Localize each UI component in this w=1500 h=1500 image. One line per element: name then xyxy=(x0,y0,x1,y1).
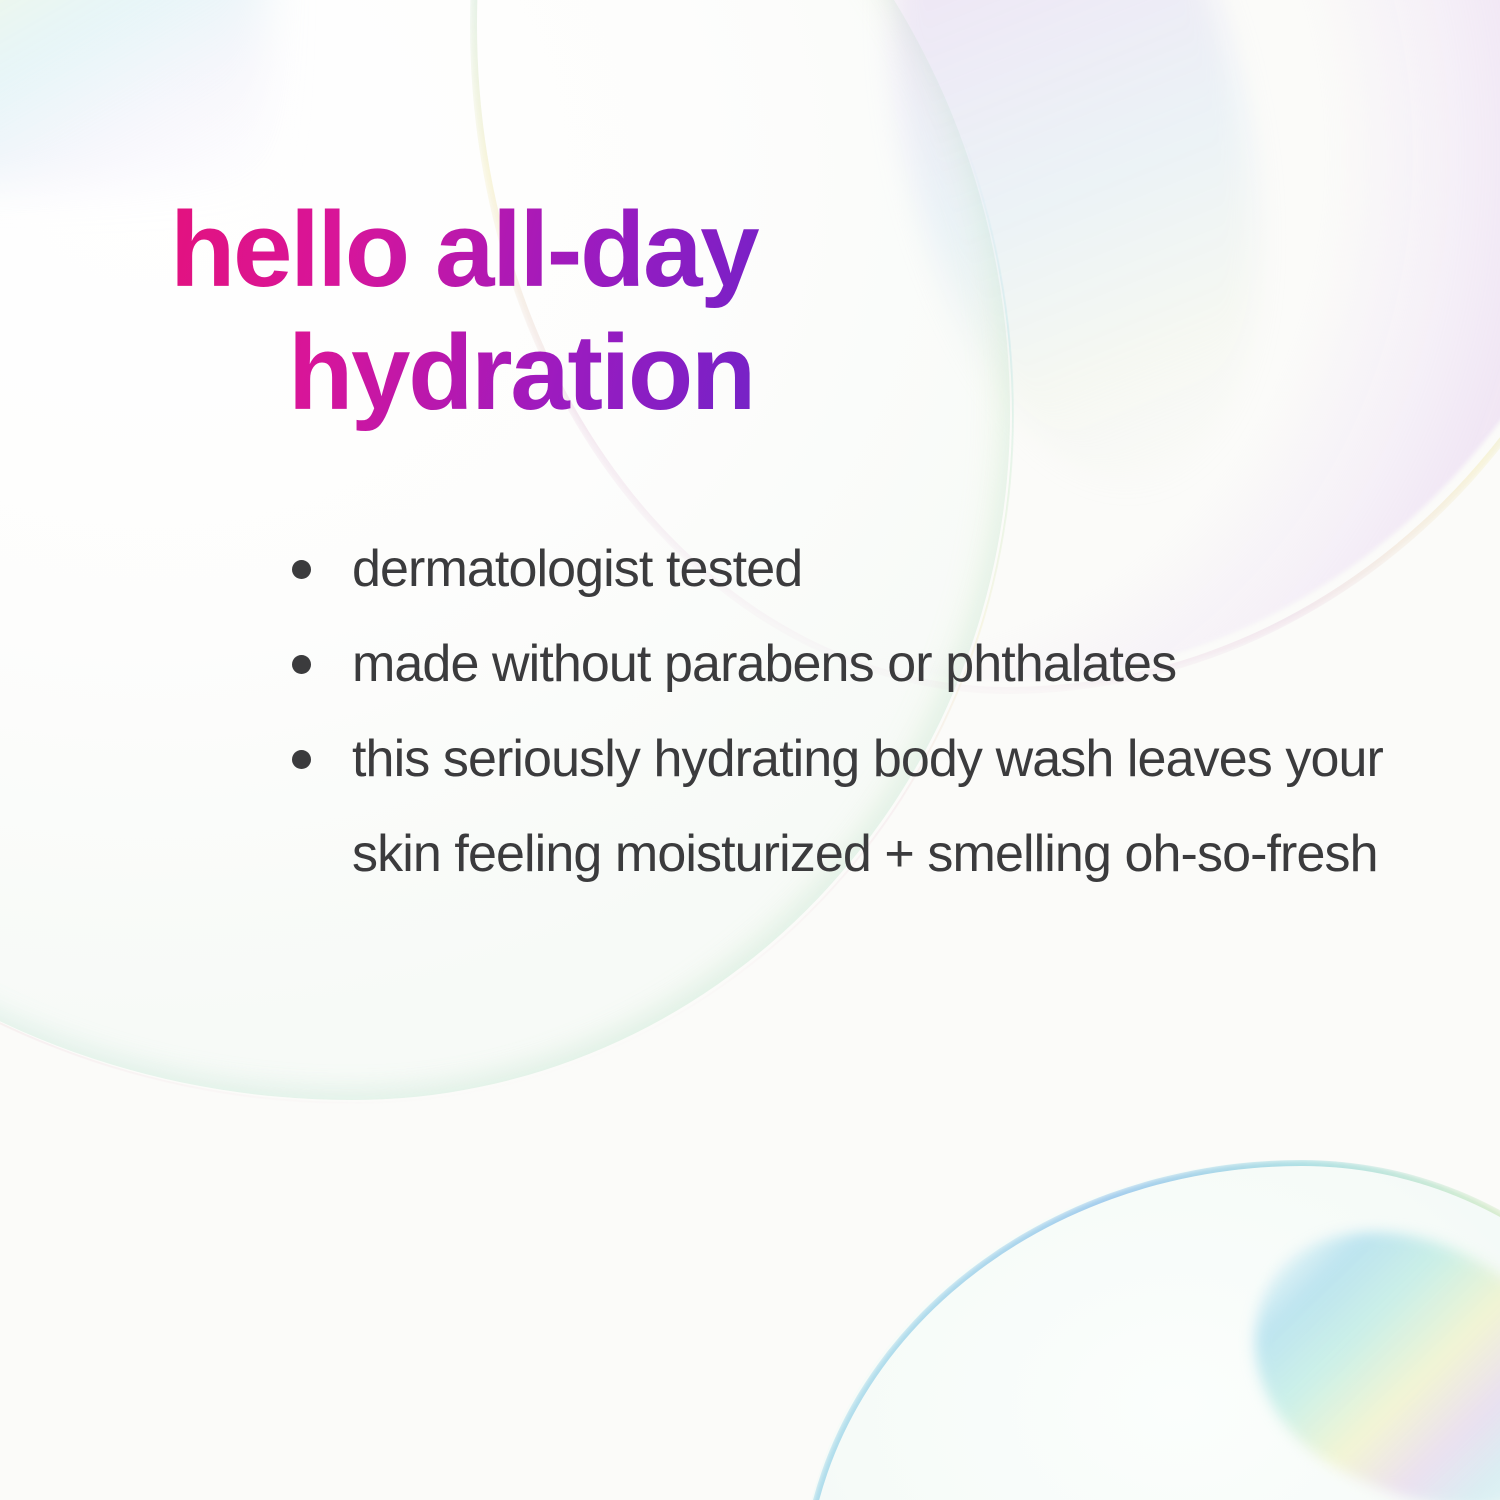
bubble-bottom-right xyxy=(800,1160,1500,1500)
list-item-label: dermatologist tested xyxy=(352,540,802,598)
bullet-dot-icon xyxy=(292,560,311,579)
bullet-dot-icon xyxy=(292,655,311,674)
headline-line-2: hydration xyxy=(170,311,1270,434)
list-item: made without parabens or phthalates xyxy=(288,617,1398,712)
claims-list: dermatologist tested made without parabe… xyxy=(288,522,1398,902)
page-title: hello all-day hydration xyxy=(170,188,1270,434)
bubble-bottom-right-rim-icon xyxy=(800,1160,1500,1500)
list-item-label: this seriously hydrating body wash leave… xyxy=(352,730,1383,883)
bullet-dot-icon xyxy=(292,750,311,769)
list-item: dermatologist tested xyxy=(288,522,1398,617)
bubble-bottom-right-streak xyxy=(1206,1175,1500,1500)
product-claims-card: hello all-day hydration dermatologist te… xyxy=(0,0,1500,1500)
corner-sheen-top-left xyxy=(0,0,270,190)
list-item: this seriously hydrating body wash leave… xyxy=(288,712,1398,902)
headline-line-1: hello all-day xyxy=(170,188,1270,311)
list-item-label: made without parabens or phthalates xyxy=(352,635,1176,693)
